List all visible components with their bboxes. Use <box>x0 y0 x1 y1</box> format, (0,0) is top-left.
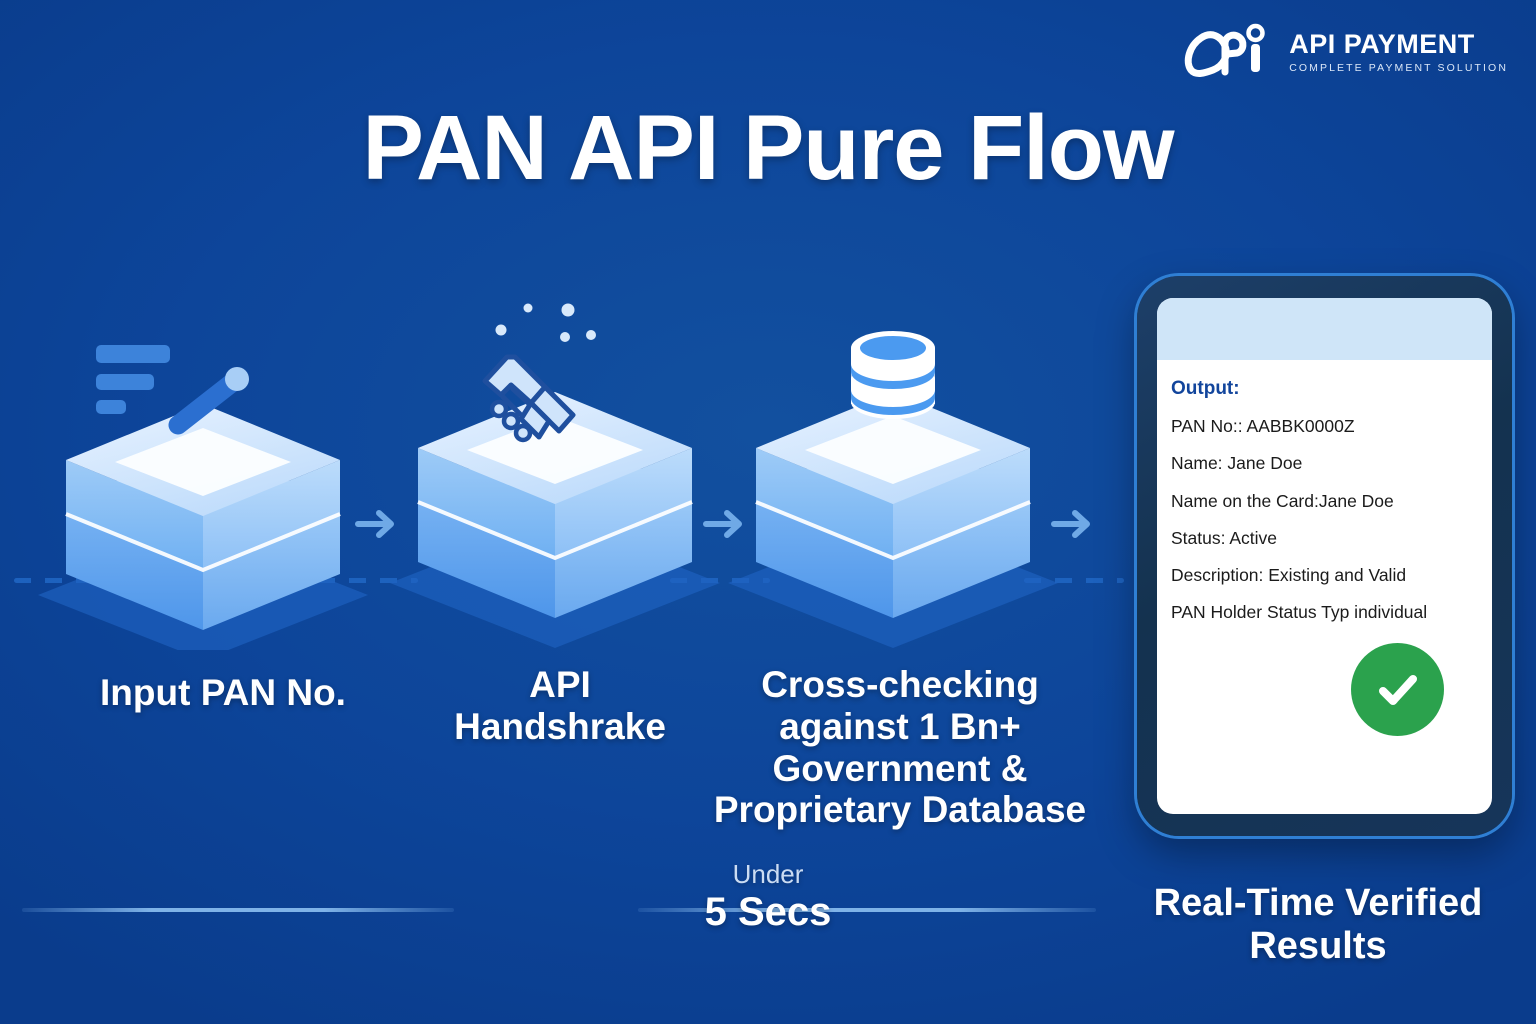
caption-line: Cross-checking <box>705 664 1095 706</box>
page-title: PAN API Pure Flow <box>0 96 1536 201</box>
output-phone-mockup: Output: PAN No:: AABBK0000Z Name: Jane D… <box>1137 276 1512 836</box>
output-line-name-on-card: Name on the Card:Jane Doe <box>1171 492 1478 511</box>
caption-line: Input PAN No. <box>28 672 418 714</box>
check-circle-icon <box>1351 643 1444 736</box>
caption-line: Proprietary Database <box>705 789 1095 831</box>
status-badge <box>1351 643 1444 736</box>
caption-line: Government & <box>705 748 1095 790</box>
flow-step-cross-checking-caption: Cross-checking against 1 Bn+ Government … <box>705 664 1095 831</box>
logo-wordmark: API PAYMENT COMPLETE PAYMENT SOLUTION <box>1289 31 1508 74</box>
result-line: Results <box>1108 925 1528 968</box>
brand-logo: API PAYMENT COMPLETE PAYMENT SOLUTION <box>1183 22 1508 82</box>
infographic-canvas: API PAYMENT COMPLETE PAYMENT SOLUTION PA… <box>0 0 1536 1024</box>
flow-step-input-pan-caption: Input PAN No. <box>28 672 418 714</box>
speed-value-text: 5 Secs <box>705 890 832 934</box>
output-card: Output: PAN No:: AABBK0000Z Name: Jane D… <box>1157 298 1492 814</box>
pen-form-cube-icon <box>28 330 418 650</box>
output-line-name: Name: Jane Doe <box>1171 454 1478 473</box>
output-line-description: Description: Existing and Valid <box>1171 566 1478 585</box>
output-title: Output: <box>1171 378 1478 400</box>
flow-step-api-handshake-caption: API Handshrake <box>365 664 755 748</box>
output-card-header-bar <box>1157 298 1492 360</box>
caption-line: API <box>365 664 755 706</box>
logo-tagline-text: COMPLETE PAYMENT SOLUTION <box>1289 63 1508 74</box>
real-time-results-label: Real-Time Verified Results <box>1108 882 1528 967</box>
speed-prefix-text: Under <box>733 859 804 889</box>
result-line: Real-Time Verified <box>1108 882 1528 925</box>
database-cube-icon <box>705 320 1095 650</box>
handshake-cube-icon <box>365 290 755 650</box>
output-line-pan-no: PAN No:: AABBK0000Z <box>1171 417 1478 436</box>
logo-brand-text: API PAYMENT <box>1289 31 1508 58</box>
flow-step-api-handshake: API Handshrake <box>365 290 755 748</box>
output-card-body: Output: PAN No:: AABBK0000Z Name: Jane D… <box>1157 360 1492 814</box>
arrow-right-icon-3 <box>1048 500 1100 553</box>
output-line-holder-status: PAN Holder Status Typ individual <box>1171 603 1478 622</box>
api-monogram-icon <box>1183 22 1279 82</box>
caption-line: against 1 Bn+ <box>705 706 1095 748</box>
flow-step-cross-checking: Cross-checking against 1 Bn+ Government … <box>705 320 1095 831</box>
caption-line: Handshrake <box>365 706 755 748</box>
output-line-status: Status: Active <box>1171 529 1478 548</box>
